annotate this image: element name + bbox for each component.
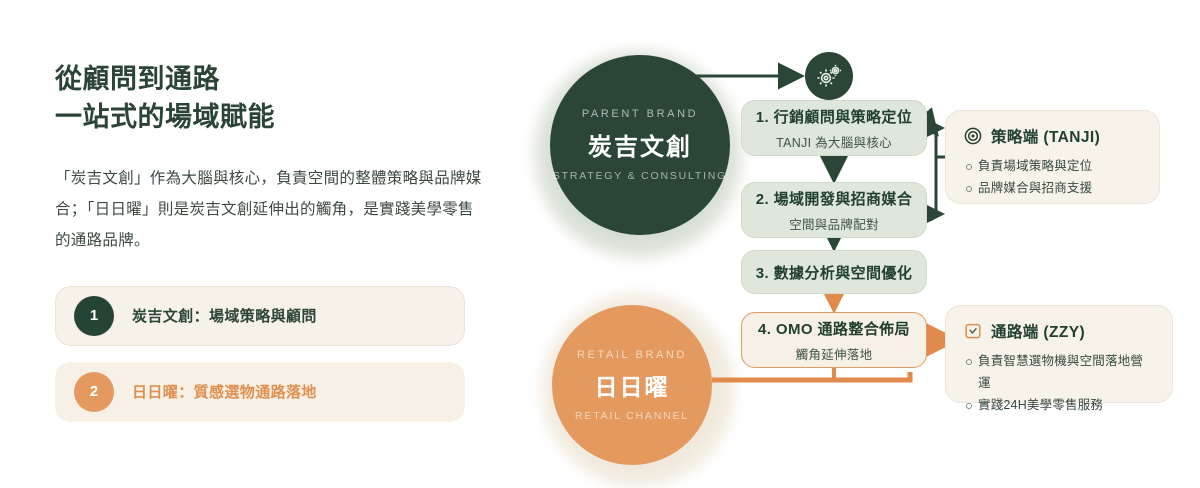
flow-diagram: PARENT BRAND 炭吉文創 STRATEGY & CONSULTING …: [490, 0, 1200, 483]
info-card-tanji-header: 策略端 (TANJI): [964, 125, 1141, 147]
list-item: 負責智慧選物機與空間落地營運: [964, 351, 1154, 395]
badge-number-1: 1: [74, 296, 114, 336]
info-card-tanji[interactable]: 策略端 (TANJI) 負責場域策略與定位 品牌媒合與招商支援: [945, 110, 1160, 204]
retail-brand-subtitle: RETAIL CHANNEL: [575, 410, 689, 422]
flow-step-1-title: 1. 行銷顧問與策略定位: [756, 106, 912, 127]
left-panel: 從顧問到通路 一站式的場域賦能 「炭吉文創」作為大腦與核心，負責空間的整體策略與…: [55, 60, 485, 438]
parent-brand-circle[interactable]: PARENT BRAND 炭吉文創 STRATEGY & CONSULTING: [550, 55, 730, 235]
flow-step-1[interactable]: 1. 行銷顧問與策略定位 TANJI 為大腦與核心: [741, 100, 927, 156]
info-card-zzy[interactable]: 通路端 (ZZY) 負責智慧選物機與空間落地營運 實踐24H美學零售服務: [945, 305, 1173, 403]
info-card-zzy-header: 通路端 (ZZY): [964, 320, 1154, 342]
badge-number-2: 2: [74, 372, 114, 412]
list-item: 負責場域策略與定位: [964, 156, 1141, 178]
parent-brand-title: 炭吉文創: [588, 127, 692, 162]
info-card-zzy-title: 通路端 (ZZY): [991, 320, 1085, 342]
flow-step-4[interactable]: 4. OMO 通路整合佈局 觸角延伸落地: [741, 312, 927, 368]
list-item: 實踐24H美學零售服務: [964, 395, 1154, 417]
target-icon: [964, 127, 982, 145]
info-card-zzy-bullets: 負責智慧選物機與空間落地營運 實踐24H美學零售服務: [964, 351, 1154, 417]
flow-step-1-subtitle: TANJI 為大腦與核心: [776, 132, 892, 151]
retail-brand-kicker: RETAIL BRAND: [577, 349, 687, 361]
flow-step-4-title: 4. OMO 通路整合佈局: [758, 318, 910, 339]
flow-step-3-title: 3. 數據分析與空間優化: [756, 262, 912, 283]
retail-brand-title: 日日曜: [595, 368, 670, 402]
headline-line-2: 一站式的場域賦能: [55, 98, 485, 136]
flow-step-2-subtitle: 空間與品牌配對: [789, 214, 879, 233]
intro-paragraph: 「炭吉文創」作為大腦與核心，負責空間的整體策略與品牌媒合；「日日曜」則是炭吉文創…: [55, 163, 485, 256]
parent-brand-subtitle: STRATEGY & CONSULTING: [553, 170, 727, 182]
gears-icon: [815, 63, 843, 89]
flow-step-4-subtitle: 觸角延伸落地: [796, 344, 873, 363]
list-item-1[interactable]: 1 炭吉文創：場域策略與顧問: [55, 286, 465, 346]
flow-step-3[interactable]: 3. 數據分析與空間優化: [741, 250, 927, 294]
list-item-2[interactable]: 2 日日曜：質感選物通路落地: [55, 362, 465, 422]
headline-line-1: 從顧問到通路: [55, 64, 220, 94]
clipboard-check-icon: [964, 322, 982, 340]
infographic-canvas: 從顧問到通路 一站式的場域賦能 「炭吉文創」作為大腦與核心，負責空間的整體策略與…: [0, 0, 1200, 483]
list-item: 品牌媒合與招商支援: [964, 178, 1141, 200]
flow-step-2-title: 2. 場域開發與招商媒合: [756, 188, 912, 209]
info-card-tanji-bullets: 負責場域策略與定位 品牌媒合與招商支援: [964, 156, 1141, 200]
list-item-1-label: 炭吉文創：場域策略與顧問: [132, 305, 317, 326]
info-card-tanji-title: 策略端 (TANJI): [991, 125, 1100, 147]
gears-node[interactable]: [805, 52, 853, 100]
parent-brand-kicker: PARENT BRAND: [582, 108, 698, 120]
page-title: 從顧問到通路 一站式的場域賦能: [55, 60, 485, 137]
retail-brand-circle[interactable]: RETAIL BRAND 日日曜 RETAIL CHANNEL: [552, 305, 712, 465]
flow-step-2[interactable]: 2. 場域開發與招商媒合 空間與品牌配對: [741, 182, 927, 238]
list-item-2-label: 日日曜：質感選物通路落地: [132, 381, 317, 402]
